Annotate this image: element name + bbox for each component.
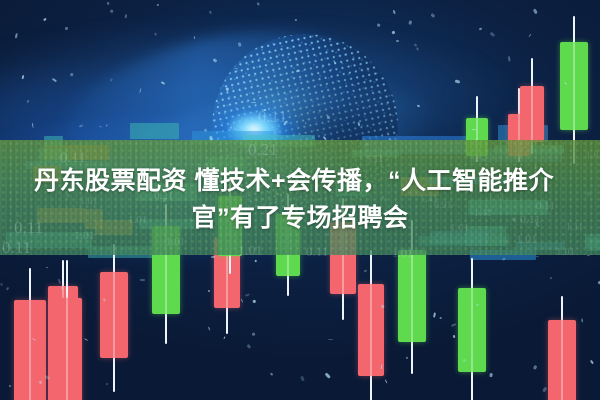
candlestick-body	[14, 300, 46, 400]
floating-number: 0.11	[2, 238, 31, 258]
candlestick-body	[52, 298, 82, 400]
headline-line-2: 官”有了专场招聘会	[8, 200, 592, 237]
floating-number: 0.21	[248, 140, 278, 160]
candlestick-down	[52, 298, 82, 400]
candlestick-body	[358, 284, 384, 376]
particle	[476, 304, 479, 306]
candlestick-body	[520, 86, 544, 142]
floating-number: 1.01	[238, 244, 263, 260]
floating-number: 1.01	[586, 150, 600, 161]
candlestick-down	[548, 320, 576, 400]
candlestick-body	[548, 320, 576, 400]
floating-number: 0.11	[306, 244, 328, 260]
candlestick-down	[520, 86, 544, 142]
particle	[65, 27, 68, 30]
page-title: 丹东股票配资 懂技术+会传播，“人工智能推介 官”有了专场招聘会	[0, 163, 600, 237]
candlestick-body	[100, 272, 128, 358]
particle	[61, 286, 63, 290]
candlestick-up	[560, 42, 588, 130]
candlestick-down	[358, 284, 384, 376]
floating-number: 1.01	[392, 246, 413, 261]
floating-number: 1.01	[556, 246, 575, 258]
candlestick-up	[398, 250, 426, 342]
particle	[140, 279, 145, 281]
candlestick-body	[398, 250, 426, 342]
headline-line-1: 丹东股票配资 懂技术+会传播，“人工智能推介	[8, 163, 592, 200]
candlestick-down	[100, 272, 128, 358]
particle	[328, 339, 333, 340]
particle	[396, 40, 399, 42]
particle	[0, 283, 3, 286]
floating-number: 1.01	[166, 236, 185, 248]
particle	[238, 42, 241, 46]
banner-image: 0.111.010.110.111.011.010.211.011.010.11…	[0, 0, 600, 400]
floating-number: 0.11	[258, 107, 287, 127]
candlestick-down	[14, 300, 46, 400]
particle	[472, 129, 476, 130]
candlestick-body	[560, 42, 588, 130]
particle	[327, 116, 330, 119]
glass-plate	[130, 123, 179, 139]
